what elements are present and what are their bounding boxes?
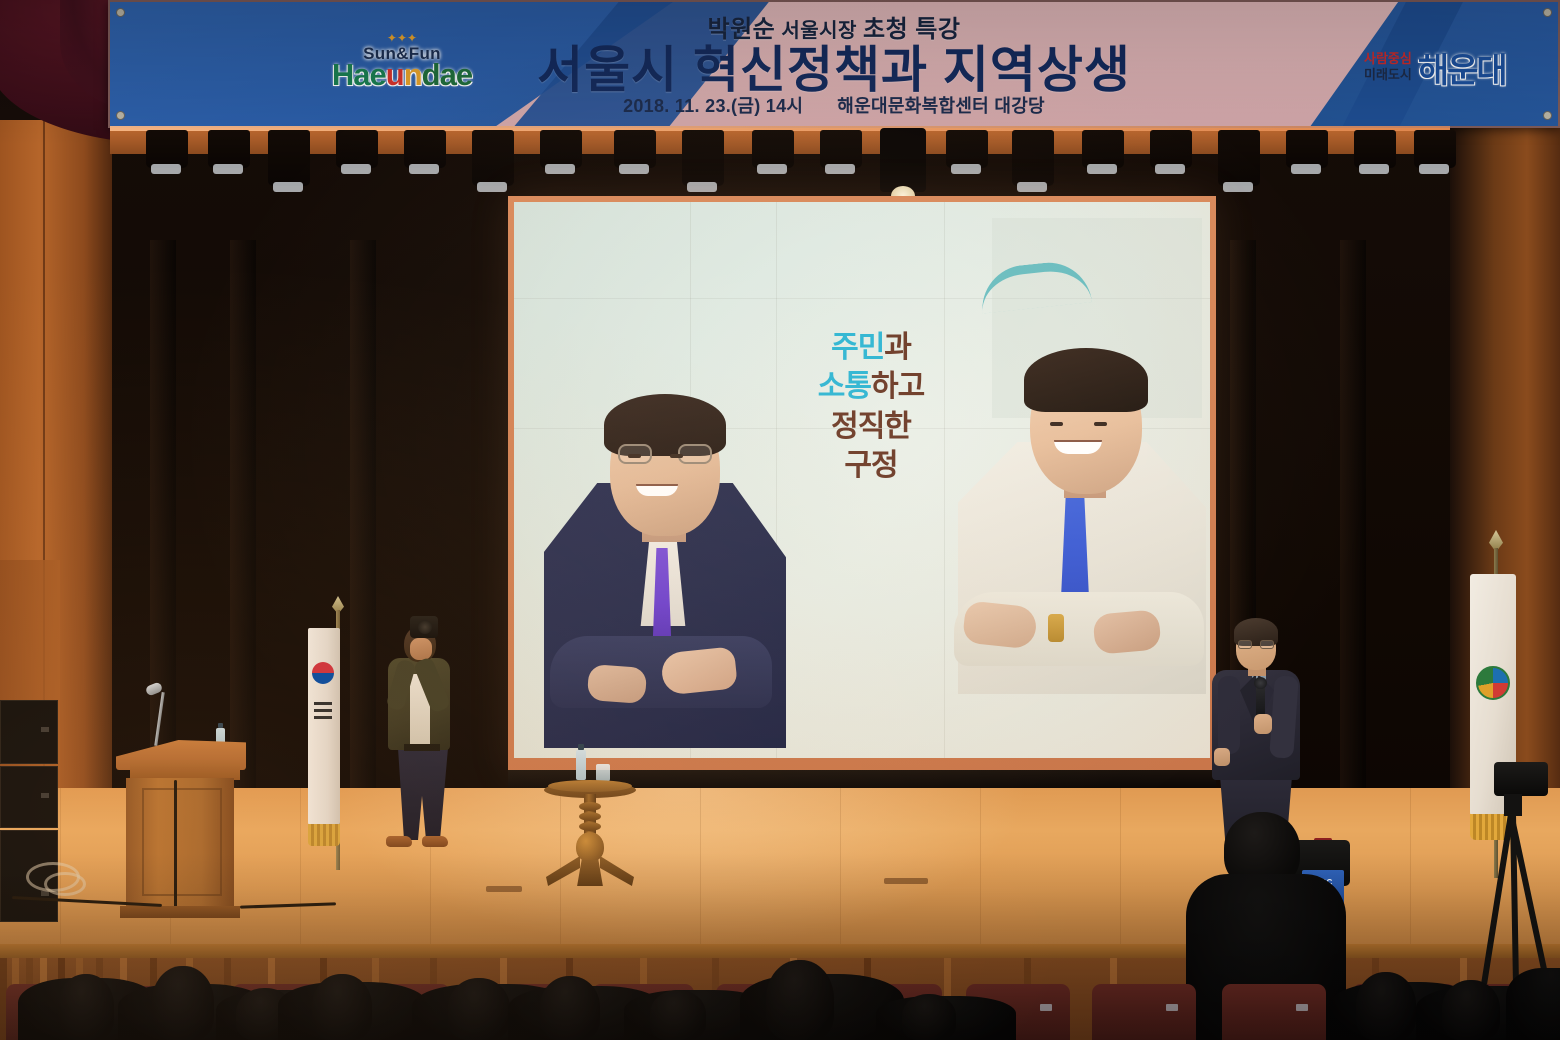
banner-headline: 서울시 혁신정책과 지역상생 bbox=[537, 45, 1131, 95]
stage-light-fixture bbox=[1150, 130, 1192, 168]
stage-light-fixture bbox=[682, 130, 724, 186]
stage-light-fixture bbox=[1218, 130, 1260, 186]
audience-member bbox=[1506, 968, 1560, 1040]
audience-member-head bbox=[540, 976, 600, 1040]
projection-screen-frame: 주민과 소통하고 정직한 구정 bbox=[508, 196, 1216, 776]
logo-word-part-1: Hae bbox=[332, 57, 386, 92]
lecturer-glasses bbox=[1238, 640, 1274, 650]
flag-fringe bbox=[308, 824, 340, 846]
slide-slogan-highlight: 소통 bbox=[818, 370, 871, 403]
event-banner: ✦✦✦ Sun&Fun Haeundae 박원순 서울시장 초청 특강 서울시 … bbox=[108, 0, 1560, 128]
stage-light-fixture bbox=[146, 130, 188, 168]
haeundae-sunfun-logo: ✦✦✦ Sun&Fun Haeundae bbox=[312, 32, 492, 98]
audience-seated-row bbox=[0, 952, 1560, 1040]
city-logo-tagline-top: 사람중심 bbox=[1364, 51, 1412, 67]
banner-lecture-type: 초청 특강 bbox=[863, 16, 961, 43]
lecture-hall-photo: ✦✦✦ Sun&Fun Haeundae 박원순 서울시장 초청 특강 서울시 … bbox=[0, 0, 1560, 1040]
floor-vent bbox=[884, 878, 928, 884]
slide-slogan-rest: 구정 bbox=[844, 449, 897, 482]
audience-member-head bbox=[1356, 972, 1416, 1040]
stage-light-fixture bbox=[1286, 130, 1328, 168]
audience-member-head bbox=[448, 978, 510, 1040]
stage-light-fixture bbox=[1082, 130, 1124, 168]
slide-slogan-text: 주민과 소통하고 정직한 구정 bbox=[786, 330, 956, 488]
taeguk-symbol bbox=[312, 662, 334, 684]
flag-cloth bbox=[308, 628, 340, 828]
slide-slogan-row: 구정 bbox=[786, 448, 956, 483]
stage-light-fixture bbox=[540, 130, 582, 168]
stage-light-fixture bbox=[1414, 130, 1456, 168]
audience-member-head bbox=[766, 960, 834, 1040]
banner-details-line: 2018. 11. 23.(금) 14시해운대문화복합센터 대강당 bbox=[623, 97, 1045, 115]
slide-slogan-rest: 과 bbox=[884, 331, 911, 364]
stage-light-fixture bbox=[336, 130, 378, 168]
slide-slogan-rest: 정직한 bbox=[831, 410, 911, 443]
banner-guest-name: 박원순 bbox=[708, 16, 776, 43]
korean-national-flag bbox=[306, 610, 346, 870]
logo-word-part-4: dae bbox=[422, 57, 472, 92]
audience-member-head bbox=[312, 974, 372, 1040]
logo-word-part-3: n bbox=[404, 57, 422, 92]
tripod-camera-body bbox=[1494, 762, 1548, 796]
stage-light-fixture bbox=[472, 130, 514, 186]
stage-light-fixture bbox=[820, 130, 862, 168]
follow-spot-light bbox=[880, 128, 926, 192]
audience-member-head bbox=[1442, 980, 1500, 1040]
banner-date: 2018. 11. 23.(금) 14시 bbox=[623, 96, 803, 116]
stage-light-fixture bbox=[268, 130, 310, 186]
coiled-cable bbox=[44, 872, 86, 896]
city-logo-name: 해운대 bbox=[1418, 43, 1506, 92]
stage-light-fixture bbox=[1354, 130, 1396, 168]
stage-light-fixture bbox=[752, 130, 794, 168]
trigram-bars bbox=[314, 702, 332, 728]
stage-light-fixture bbox=[946, 130, 988, 168]
press-photographer bbox=[374, 618, 460, 858]
slide-portrait-left bbox=[544, 308, 786, 748]
banner-guest-title: 서울시장 bbox=[775, 20, 863, 42]
logo-wordmark: Haeundae bbox=[312, 57, 492, 93]
district-emblem bbox=[1476, 666, 1510, 700]
logo-crown-icon: ✦✦✦ bbox=[312, 32, 492, 44]
slide-portrait-right-watch bbox=[1048, 614, 1064, 642]
banner-venue: 해운대문화복합센터 대강당 bbox=[837, 96, 1045, 116]
round-side-table bbox=[544, 766, 636, 890]
wooden-podium bbox=[116, 722, 246, 922]
city-logo-tagline: 사람중심 미래도시 bbox=[1364, 51, 1412, 82]
audience-member-head bbox=[902, 994, 956, 1040]
stage-light-fixture bbox=[614, 130, 656, 168]
slide-slogan-row: 소통하고 bbox=[786, 369, 956, 404]
theater-seat bbox=[1092, 984, 1196, 1040]
camera-lens-icon bbox=[418, 620, 432, 634]
podium-cable bbox=[174, 780, 177, 916]
haeundae-city-logo: 사람중심 미래도시 해운대 bbox=[1364, 32, 1554, 102]
slide-slogan-highlight: 주민 bbox=[831, 331, 884, 364]
stage-light-fixture bbox=[1012, 130, 1054, 186]
projection-screen: 주민과 소통하고 정직한 구정 bbox=[514, 202, 1210, 758]
banner-subtitle-line: 박원순 서울시장 초청 특강 bbox=[708, 18, 961, 42]
slide-portrait-right bbox=[958, 264, 1206, 694]
audience-member-head bbox=[58, 974, 114, 1040]
audience-member-head bbox=[650, 990, 706, 1040]
floor-vent bbox=[486, 886, 522, 892]
table-water-bottle bbox=[576, 750, 586, 780]
slide-slogan-row: 주민과 bbox=[786, 330, 956, 365]
city-logo-tagline-bottom: 미래도시 bbox=[1364, 67, 1412, 83]
slide-slogan-rest: 하고 bbox=[871, 370, 924, 403]
slide-slogan-row: 정직한 bbox=[786, 409, 956, 444]
audience-member-head bbox=[152, 966, 214, 1040]
stage-light-fixture bbox=[404, 130, 446, 168]
logo-word-part-2: u bbox=[386, 57, 404, 92]
stage-light-fixture bbox=[208, 130, 250, 168]
theater-seat bbox=[1222, 984, 1326, 1040]
